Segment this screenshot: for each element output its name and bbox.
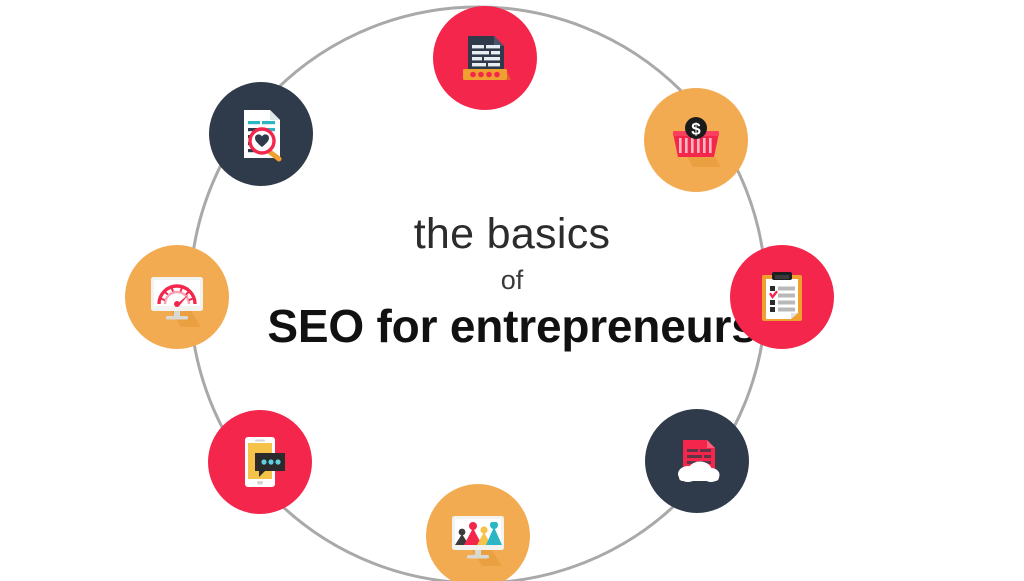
infographic-canvas: the basics of SEO for entrepreneurs bbox=[0, 0, 1024, 581]
monitor-audience-icon bbox=[446, 504, 510, 568]
node-cloud-content[interactable] bbox=[645, 409, 749, 513]
node-site-speed[interactable] bbox=[125, 245, 229, 349]
node-mobile-chat[interactable] bbox=[208, 410, 312, 514]
clipboard-checklist-icon bbox=[751, 266, 813, 328]
node-ecommerce[interactable]: $ bbox=[644, 88, 748, 192]
document-magnifier-heart-icon bbox=[230, 103, 292, 165]
svg-text:$: $ bbox=[691, 120, 701, 139]
node-audience[interactable] bbox=[426, 484, 530, 581]
document-with-rating-icon bbox=[454, 27, 516, 89]
node-content-rating[interactable] bbox=[433, 6, 537, 110]
node-keyword-research[interactable] bbox=[209, 82, 313, 186]
smartphone-chat-icon bbox=[229, 431, 291, 493]
cloud-document-icon bbox=[666, 430, 728, 492]
monitor-speedometer-icon bbox=[145, 265, 209, 329]
node-checklist[interactable] bbox=[730, 245, 834, 349]
shopping-basket-dollar-icon: $ bbox=[665, 109, 727, 171]
